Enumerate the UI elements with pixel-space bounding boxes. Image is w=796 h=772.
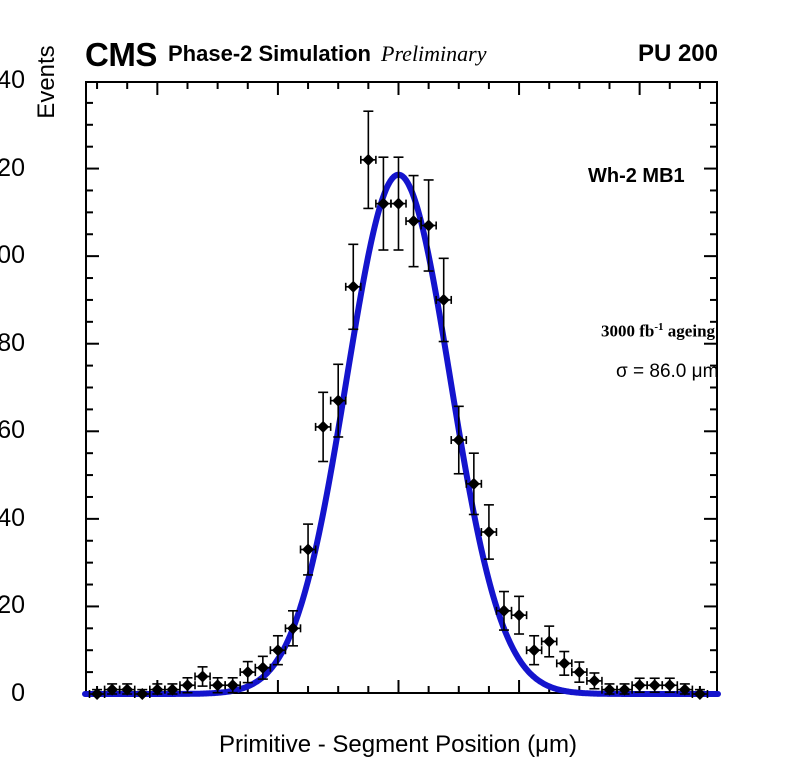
data-point: [240, 662, 255, 683]
y-tick-label: 60: [0, 418, 25, 443]
data-point: [270, 636, 285, 665]
data-point: [512, 596, 527, 634]
data-point: [195, 667, 210, 686]
y-tick-label: 40: [0, 506, 25, 531]
data-point: [662, 678, 677, 692]
plot-canvas: CMS Phase-2 Simulation Preliminary PU 20…: [0, 0, 796, 772]
data-point: [632, 678, 647, 692]
data-point: [496, 592, 511, 631]
data-point: [421, 180, 436, 271]
y-tick-label: 20: [0, 593, 25, 618]
data-point: [527, 636, 542, 665]
data-point: [316, 392, 331, 461]
y-tick-label: 140: [0, 68, 25, 93]
data-point: [587, 673, 602, 689]
data-point: [436, 258, 451, 341]
data-point: [135, 688, 150, 700]
y-axis-title: Events: [33, 17, 61, 147]
data-point: [542, 626, 557, 657]
y-tick-label: 120: [0, 156, 25, 181]
data-point: [391, 157, 406, 250]
plot-header: CMS Phase-2 Simulation Preliminary PU 20…: [0, 0, 796, 70]
ageing-exponent: -1: [654, 321, 663, 333]
cms-logo-text: CMS: [85, 38, 157, 71]
data-point: [90, 688, 105, 700]
data-point: [692, 688, 707, 700]
data-point: [180, 678, 195, 693]
data-point: [331, 364, 346, 437]
data-points-group: [90, 111, 708, 700]
pileup-label: PU 200: [638, 42, 718, 66]
ageing-annotation: 3000 fb-1 ageing: [601, 321, 715, 342]
y-tick-label: 0: [0, 681, 25, 706]
plot-frame: 020406080100120140 −400−2000200400 Wh-2 …: [85, 81, 718, 694]
data-point: [557, 652, 572, 676]
region-annotation: Wh-2 MB1: [588, 165, 685, 188]
preliminary-label: Preliminary: [381, 43, 487, 65]
ageing-lumi: 3000 fb: [601, 322, 654, 341]
x-axis-title: Primitive - Segment Position (μm): [0, 731, 796, 759]
data-point: [376, 157, 391, 250]
data-point: [572, 662, 587, 682]
y-tick-label: 80: [0, 331, 25, 356]
simulation-label: Phase-2 Simulation: [168, 43, 371, 65]
y-tick-label: 100: [0, 243, 25, 268]
gaussian-fit-curve: [85, 175, 718, 694]
data-point: [647, 678, 662, 692]
ageing-suffix: ageing: [664, 322, 715, 341]
data-point: [361, 111, 376, 208]
sigma-annotation: σ = 86.0 μm: [616, 361, 718, 383]
data-point: [466, 453, 481, 514]
